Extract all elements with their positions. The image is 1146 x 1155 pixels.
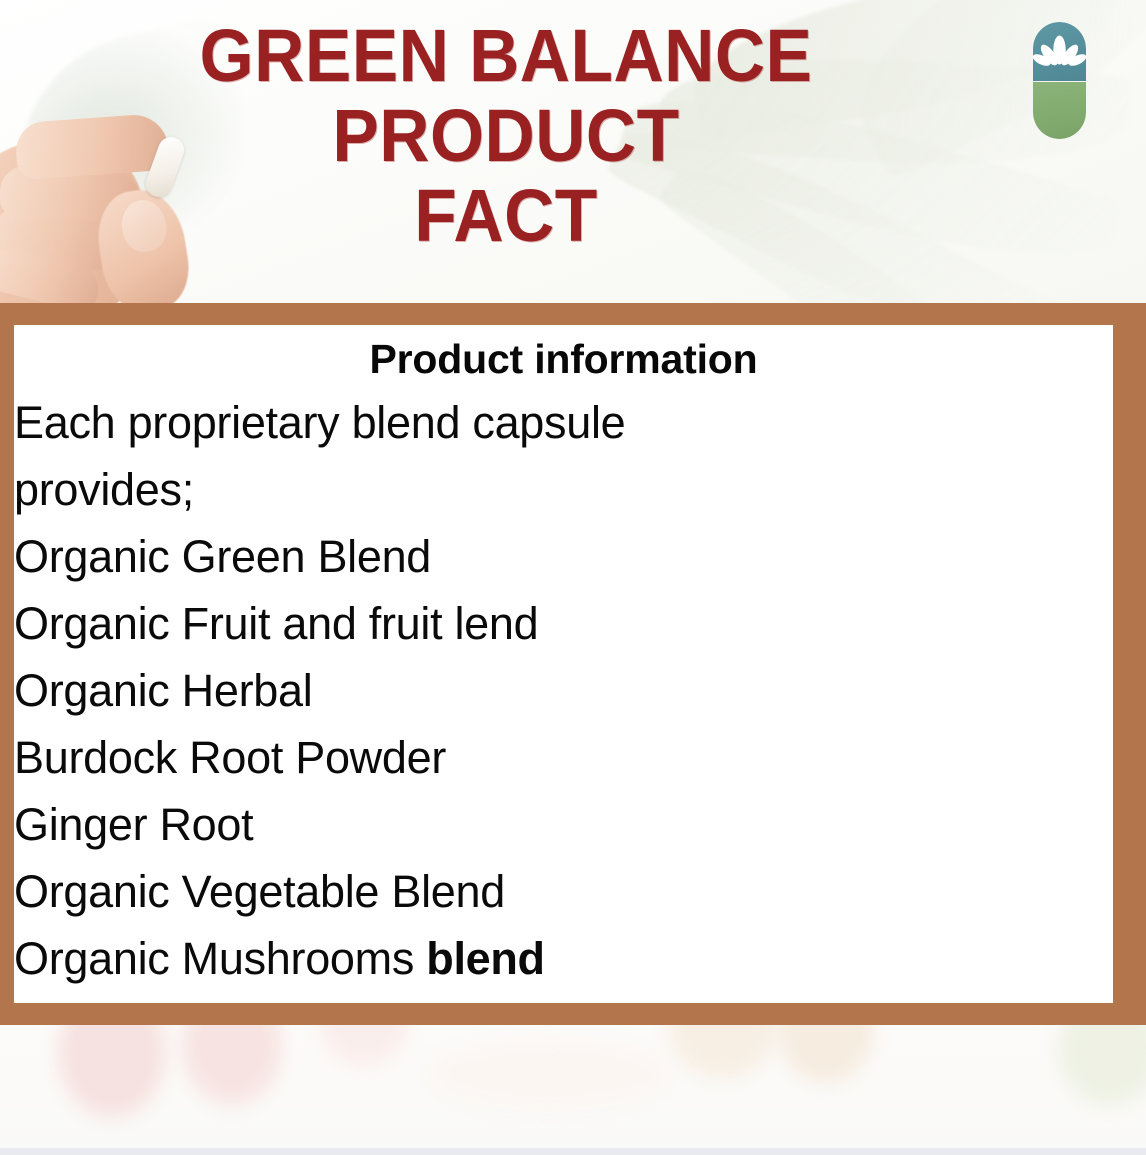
list-item: Organic Fruit and fruit lend	[14, 590, 1107, 657]
hero-banner: GREEN BALANCE PRODUCT FACT	[0, 0, 1146, 303]
blurred-capsule-shape	[778, 1025, 874, 1083]
bottom-edge-strip	[0, 1148, 1146, 1155]
blurred-capsule-shape	[58, 1025, 166, 1117]
list-item: Organic Mushrooms blend	[14, 925, 1107, 992]
blurred-capsule-shape	[182, 1025, 282, 1105]
blurred-capsule-photo-strip	[0, 1025, 1146, 1148]
list-item-text: Organic Green Blend	[14, 531, 431, 582]
green-balance-capsule-logo	[1033, 22, 1086, 139]
list-item: Organic Vegetable Blend	[14, 858, 1107, 925]
list-item-text: Organic Mushrooms	[14, 933, 426, 984]
list-item-text: Organic Fruit and fruit lend	[14, 598, 538, 649]
page-title: GREEN BALANCE PRODUCT FACT	[30, 16, 981, 256]
list-item: Ginger Root	[14, 791, 1107, 858]
list-item: Organic Green Blend	[14, 523, 1107, 590]
list-item: Burdock Root Powder	[14, 724, 1107, 791]
blurred-capsule-shape	[1058, 1025, 1146, 1105]
ingredient-list: Each proprietary blend capsule provides;…	[14, 389, 1113, 992]
blurred-highlight-shape	[430, 1039, 670, 1109]
product-fact-poster: GREEN BALANCE PRODUCT FACT Product infor…	[0, 0, 1146, 1155]
blurred-capsule-shape	[318, 1025, 410, 1067]
list-item-text: Organic Herbal	[14, 665, 312, 716]
list-item-text: Each proprietary blend capsule provides;	[14, 397, 625, 515]
leaf-petals-icon	[1033, 22, 1086, 139]
card-heading: Product information	[14, 325, 1113, 385]
list-item: Each proprietary blend capsule provides;	[14, 389, 1107, 523]
product-info-card: Product information Each proprietary ble…	[14, 325, 1113, 1003]
list-item-bold-text: blend	[426, 933, 545, 984]
blurred-capsule-shape	[668, 1025, 778, 1079]
list-item-text: Ginger Root	[14, 799, 253, 850]
list-item-text: Organic Vegetable Blend	[14, 866, 505, 917]
list-item: Organic Herbal	[14, 657, 1107, 724]
list-item-text: Burdock Root Powder	[14, 732, 446, 783]
